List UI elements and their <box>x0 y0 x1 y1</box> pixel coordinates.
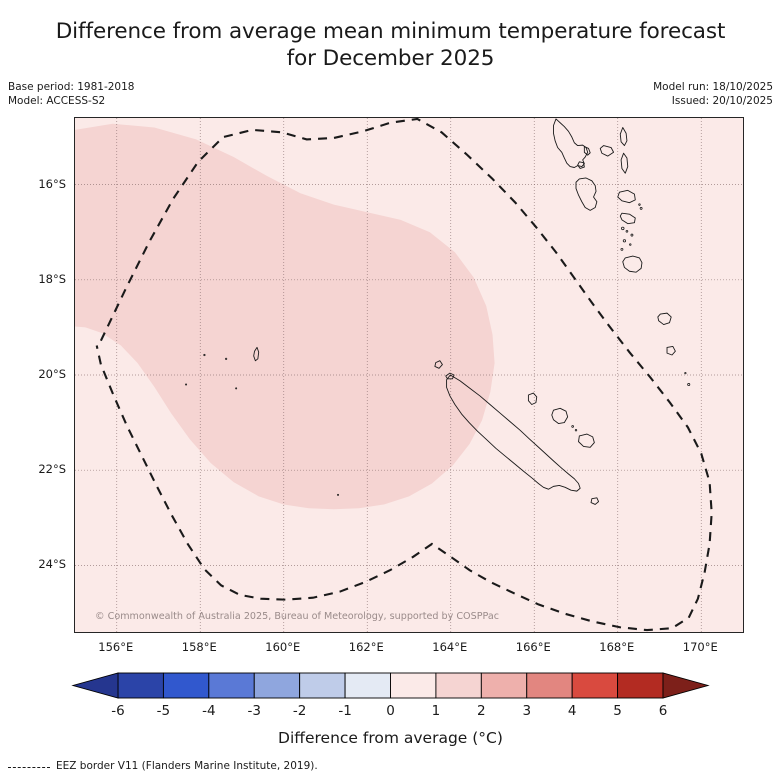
dashed-line-icon <box>8 767 50 768</box>
eez-footnote: EEZ border V11 (Flanders Marine Institut… <box>8 760 318 772</box>
map-copyright: © Commonwealth of Australia 2025, Bureau… <box>95 611 499 622</box>
lat-tick-2: 20°S <box>0 367 66 381</box>
lon-tick-7: 170°E <box>683 640 718 654</box>
lat-tick-0: 16°S <box>0 177 66 191</box>
colorbar-title: Difference from average (°C) <box>0 729 781 747</box>
colorbar-tick-8: 2 <box>477 703 486 719</box>
base-period-text: Base period: 1981-2018 <box>8 81 134 95</box>
anomaly-shading-layer <box>75 124 495 510</box>
lon-tick-2: 160°E <box>265 640 300 654</box>
metadata-left: Base period: 1981-2018 Model: ACCESS-S2 <box>8 81 134 108</box>
lat-tick-3: 22°S <box>0 462 66 476</box>
colorbar-tick-7: 1 <box>432 703 441 719</box>
colorbar-tick-12: 6 <box>659 703 668 719</box>
colorbar-tick-11: 5 <box>613 703 622 719</box>
colorbar-tick-6: 0 <box>386 703 395 719</box>
metadata-right: Model run: 18/10/2025 Issued: 20/10/2025 <box>653 81 773 108</box>
model-text: Model: ACCESS-S2 <box>8 95 134 109</box>
colorbar-tick-9: 3 <box>522 703 531 719</box>
lon-tick-6: 168°E <box>599 640 634 654</box>
lon-tick-3: 162°E <box>349 640 384 654</box>
lon-tick-1: 158°E <box>182 640 217 654</box>
lat-tick-1: 18°S <box>0 272 66 286</box>
colorbar-tick-10: 4 <box>568 703 577 719</box>
issued-text: Issued: 20/10/2025 <box>653 95 773 109</box>
colorbar-tick-3: -3 <box>248 703 261 719</box>
forecast-map-page: Difference from average mean minimum tem… <box>0 0 781 781</box>
eez-footnote-text: EEZ border V11 (Flanders Marine Institut… <box>56 760 318 772</box>
lon-tick-5: 166°E <box>516 640 551 654</box>
lon-tick-4: 164°E <box>432 640 467 654</box>
map-canvas <box>75 118 743 632</box>
colorbar-tick-4: -2 <box>293 703 306 719</box>
lon-tick-0: 156°E <box>98 640 133 654</box>
colorbar-tick-1: -5 <box>157 703 170 719</box>
map-plot-area[interactable]: © Commonwealth of Australia 2025, Bureau… <box>74 117 744 633</box>
lat-tick-4: 24°S <box>0 557 66 571</box>
colorbar-tick-5: -1 <box>338 703 351 719</box>
colorbar-tick-labels: -6-5-4-3-2-10123456 <box>0 703 781 723</box>
colorbar-tick-0: -6 <box>111 703 124 719</box>
page-title: Difference from average mean minimum tem… <box>40 18 741 72</box>
model-run-text: Model run: 18/10/2025 <box>653 81 773 95</box>
colorbar-tick-2: -4 <box>202 703 215 719</box>
